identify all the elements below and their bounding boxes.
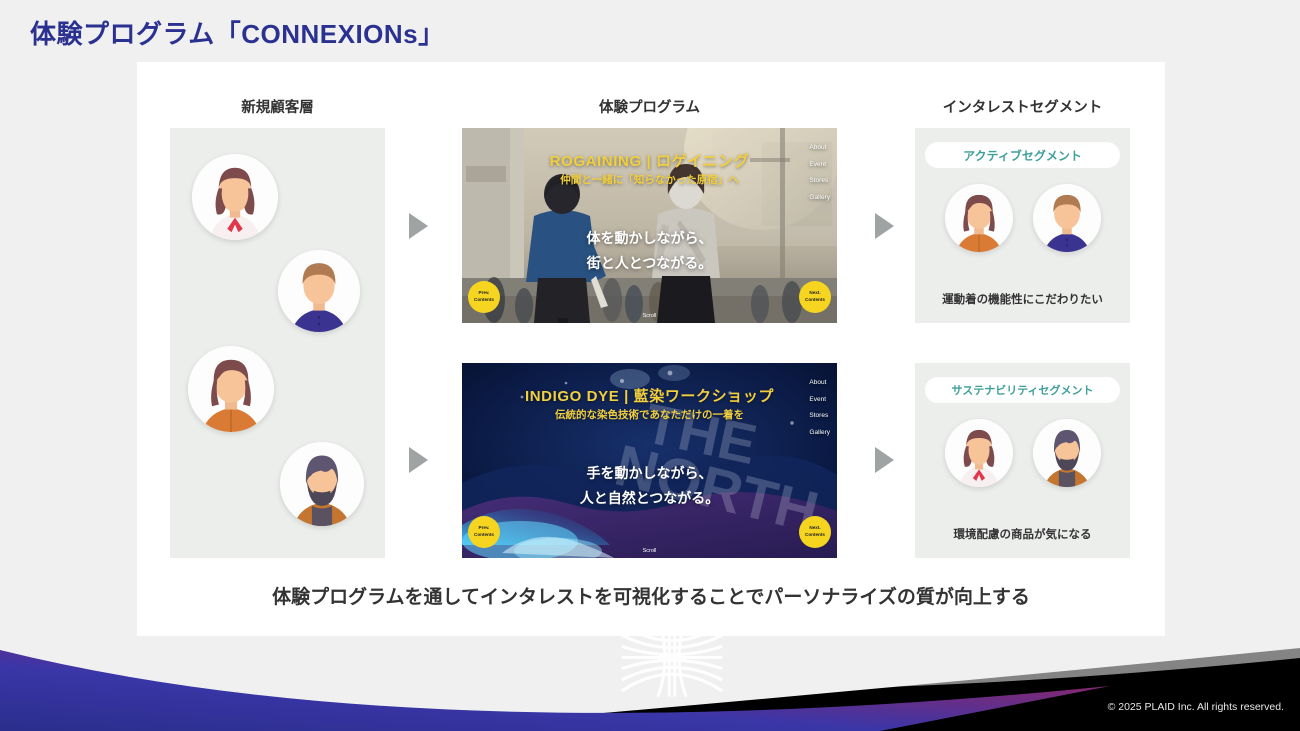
- program-lead-line-2: 街と人とつながる。: [462, 251, 837, 276]
- content-card: 新規顧客層 体験プログラム インタレストセグメント: [137, 62, 1165, 643]
- next-contents-badge[interactable]: Next.Contents: [799, 281, 831, 313]
- program-card-rogaining[interactable]: ROGAINING | ロゲイニング 仲間と一緒に「知らなかった原宿」へ 体を動…: [462, 128, 837, 323]
- nav-item-event[interactable]: Event: [809, 157, 830, 174]
- program-subtitle: 伝統的な染色技術であなただけの一着を: [462, 407, 837, 422]
- segment-label-active: アクティブセグメント: [925, 142, 1120, 168]
- avatar-ribbon-girl: [192, 154, 278, 240]
- program-card-indigo-dye[interactable]: THE NORTH INDIGO DYE | 藍染ワークショップ 伝統的な染色技…: [462, 363, 837, 558]
- nav-item-event[interactable]: Event: [809, 392, 830, 409]
- scroll-label: Scroll: [462, 548, 837, 554]
- arrow-program-1-to-segment-1: [875, 213, 894, 239]
- program-nav[interactable]: About Event Stores Gallery: [809, 140, 830, 206]
- prev-contents-badge[interactable]: Prev.Contents: [468, 281, 500, 313]
- footer: XDIVE © 2025 PLAID Inc. All rights reser…: [0, 636, 1300, 731]
- scroll-label: Scroll: [462, 313, 837, 319]
- program-title: ROGAINING | ロゲイニング: [462, 150, 837, 171]
- avatar-purple-shirt-man: [278, 250, 360, 332]
- xdive-logo-icon: [22, 610, 1300, 705]
- nav-item-gallery[interactable]: Gallery: [809, 425, 830, 442]
- brand: XDIVE: [22, 610, 1300, 705]
- program-lead-line-2: 人と自然とつながる。: [462, 486, 837, 511]
- program-lead-line-1: 体を動かしながら、: [462, 226, 837, 251]
- nav-item-stores[interactable]: Stores: [809, 408, 830, 425]
- arrow-customers-to-program-2: [409, 447, 428, 473]
- copyright: © 2025 PLAID Inc. All rights reserved.: [1108, 701, 1284, 713]
- avatar-bearded-man: [280, 442, 364, 526]
- page-title: 体験プログラム「CONNEXIONs」: [30, 14, 445, 51]
- program-lead: 手を動かしながら、 人と自然とつながる。: [462, 461, 837, 510]
- avatar-purple-shirt-man: [1033, 184, 1101, 252]
- program-lead: 体を動かしながら、 街と人とつながる。: [462, 226, 837, 275]
- segment-caption-sustainability: 環境配慮の商品が気になる: [915, 526, 1130, 542]
- customer-panel: [170, 128, 385, 558]
- column-header-programs: 体験プログラム: [462, 96, 837, 117]
- nav-item-about[interactable]: About: [809, 375, 830, 392]
- avatar-ribbon-girl: [945, 419, 1013, 487]
- program-title: INDIGO DYE | 藍染ワークショップ: [462, 385, 837, 406]
- prev-contents-badge[interactable]: Prev.Contents: [468, 516, 500, 548]
- bottom-caption: 体験プログラムを通してインタレストを可視化することでパーソナライズの質が向上する: [137, 582, 1165, 609]
- arrow-customers-to-program-1: [409, 213, 428, 239]
- next-contents-badge[interactable]: Next.Contents: [799, 516, 831, 548]
- segment-caption-active: 運動着の機能性にこだわりたい: [915, 291, 1130, 307]
- segment-avatars: [915, 419, 1130, 487]
- nav-item-gallery[interactable]: Gallery: [809, 190, 830, 207]
- segment-avatars: [915, 184, 1130, 252]
- avatar-bearded-man: [1033, 419, 1101, 487]
- program-nav[interactable]: About Event Stores Gallery: [809, 375, 830, 441]
- nav-item-stores[interactable]: Stores: [809, 173, 830, 190]
- avatar-orange-shirt-woman: [945, 184, 1013, 252]
- program-subtitle: 仲間と一緒に「知らなかった原宿」へ: [462, 172, 837, 187]
- slide-root: 体験プログラム「CONNEXIONs」 新規顧客層 体験プログラム インタレスト…: [0, 0, 1300, 731]
- nav-item-about[interactable]: About: [809, 140, 830, 157]
- segment-label-sustainability: サステナビリティセグメント: [925, 377, 1120, 403]
- segment-panel-sustainability: サステナビリティセグメント: [915, 363, 1130, 558]
- program-lead-line-1: 手を動かしながら、: [462, 461, 837, 486]
- column-header-segments: インタレストセグメント: [915, 96, 1130, 117]
- avatar-orange-shirt-woman: [188, 346, 274, 432]
- column-header-customers: 新規顧客層: [170, 96, 385, 117]
- segment-panel-active: アクティブセグメント: [915, 128, 1130, 323]
- arrow-program-2-to-segment-2: [875, 447, 894, 473]
